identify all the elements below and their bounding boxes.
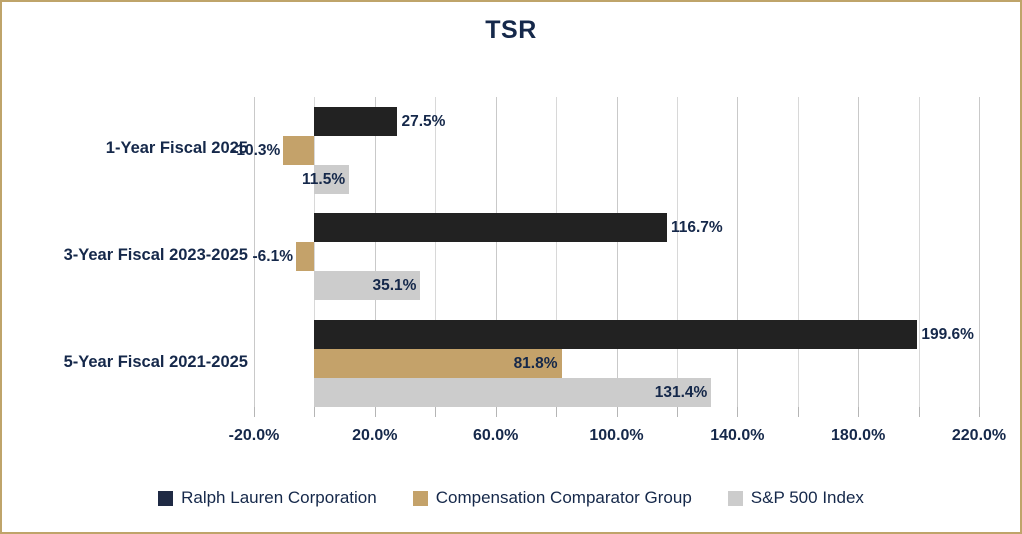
bar-group: 27.5%-10.3%11.5%: [254, 97, 979, 204]
x-axis-tick: [254, 407, 255, 417]
x-axis-tick: [677, 407, 678, 417]
x-axis-tick: [858, 407, 859, 417]
category-label: 3-Year Fiscal 2023-2025: [2, 246, 248, 265]
bar-value-label: 199.6%: [921, 320, 974, 349]
bar-value-label: 35.1%: [372, 271, 416, 300]
x-axis-tick: [435, 407, 436, 417]
x-axis-tick-label: 20.0%: [352, 427, 397, 445]
legend-swatch-icon: [728, 491, 743, 506]
bar-value-label: -10.3%: [231, 136, 280, 165]
bar-value-label: 11.5%: [302, 165, 345, 194]
bar-group: 199.6%81.8%131.4%: [254, 310, 979, 417]
x-axis-tick-label: 180.0%: [831, 427, 885, 445]
x-axis-tick-label: 60.0%: [473, 427, 518, 445]
bar-value-label: 131.4%: [655, 378, 708, 407]
legend-swatch-icon: [158, 491, 173, 506]
gridline: [979, 97, 980, 417]
bar-value-label: 116.7%: [671, 213, 723, 242]
x-axis-tick-label: 100.0%: [589, 427, 643, 445]
bar-group: 116.7%-6.1%35.1%: [254, 204, 979, 311]
page-title: TSR: [2, 16, 1020, 45]
chart-page: TSR 1-Year Fiscal 20253-Year Fiscal 2023…: [0, 0, 1022, 534]
legend-label: S&P 500 Index: [751, 488, 864, 508]
x-axis-tick: [979, 407, 980, 417]
x-axis-tick: [556, 407, 557, 417]
bar-value-label: -6.1%: [253, 242, 294, 271]
bar[interactable]: [283, 136, 314, 165]
bar-value-label: 81.8%: [514, 349, 558, 378]
category-label: 5-Year Fiscal 2021-2025: [2, 353, 248, 372]
x-axis: -20.0%20.0%60.0%100.0%140.0%180.0%220.0%: [254, 417, 979, 447]
x-axis-tick: [798, 407, 799, 417]
bar[interactable]: [296, 242, 314, 271]
legend-swatch-icon: [413, 491, 428, 506]
x-axis-tick: [919, 407, 920, 417]
legend-item[interactable]: Compensation Comparator Group: [413, 488, 692, 508]
x-axis-tick-label: 220.0%: [952, 427, 1006, 445]
x-axis-tick: [314, 407, 315, 417]
x-axis-tick-label: -20.0%: [229, 427, 280, 445]
x-axis-tick: [375, 407, 376, 417]
legend-label: Compensation Comparator Group: [436, 488, 692, 508]
x-axis-tick: [496, 407, 497, 417]
bar[interactable]: [314, 213, 667, 242]
category-axis-labels: 1-Year Fiscal 20253-Year Fiscal 2023-202…: [2, 97, 248, 417]
x-axis-tick: [617, 407, 618, 417]
category-label: 1-Year Fiscal 2025: [2, 139, 248, 158]
legend-item[interactable]: S&P 500 Index: [728, 488, 864, 508]
x-axis-tick-label: 140.0%: [710, 427, 764, 445]
plot-area: 27.5%-10.3%11.5%116.7%-6.1%35.1%199.6%81…: [254, 97, 979, 417]
bar[interactable]: [314, 320, 917, 349]
bar[interactable]: [314, 378, 711, 407]
legend-item[interactable]: Ralph Lauren Corporation: [158, 488, 377, 508]
chart-legend: Ralph Lauren CorporationCompensation Com…: [2, 488, 1020, 508]
bar-value-label: 27.5%: [401, 107, 445, 136]
x-axis-tick: [737, 407, 738, 417]
bar[interactable]: [314, 107, 397, 136]
legend-label: Ralph Lauren Corporation: [181, 488, 377, 508]
